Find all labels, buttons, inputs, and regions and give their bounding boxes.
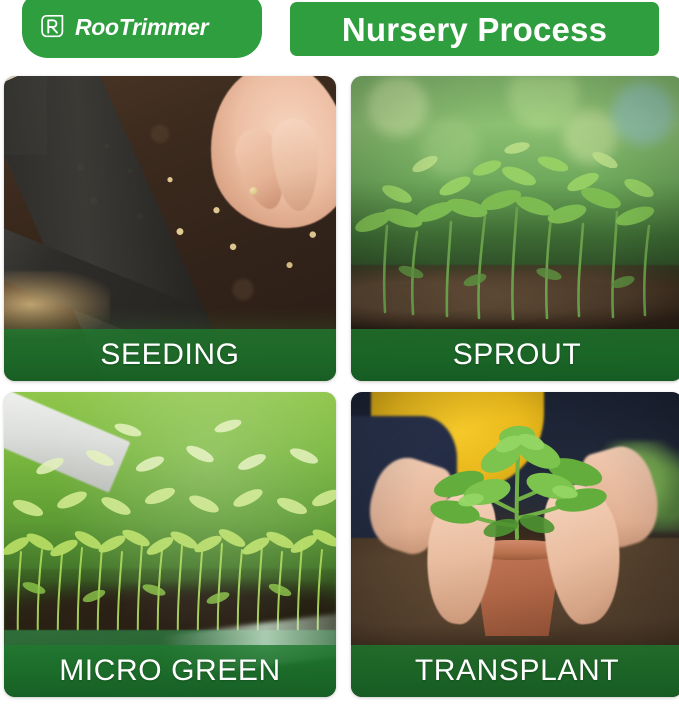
process-step-sprout[interactable]: SPROUT: [351, 76, 679, 381]
panel-label-seeding: SEEDING: [4, 329, 336, 381]
header: RooTrimmer Nursery Process: [0, 0, 679, 72]
process-step-micro-green[interactable]: MICRO GREEN: [4, 392, 336, 697]
nursery-process-infographic: RooTrimmer Nursery Process SEEDING: [0, 0, 679, 705]
process-step-grid: SEEDING: [0, 76, 679, 701]
process-step-seeding[interactable]: SEEDING: [4, 76, 336, 381]
brand-banner: RooTrimmer: [22, 0, 262, 58]
panel-label-micro-green: MICRO GREEN: [4, 645, 336, 697]
panel-label-text: MICRO GREEN: [4, 656, 336, 686]
panel-label-text: TRANSPLANT: [351, 656, 679, 686]
rootrimmer-r-logo-icon: [39, 14, 66, 41]
process-step-transplant[interactable]: TRANSPLANT: [351, 392, 679, 697]
title-banner: Nursery Process: [290, 2, 659, 56]
panel-label-transplant: TRANSPLANT: [351, 645, 679, 697]
panel-label-text: SPROUT: [351, 340, 679, 370]
brand-name: RooTrimmer: [75, 16, 208, 39]
page-title: Nursery Process: [342, 13, 607, 46]
panel-label-sprout: SPROUT: [351, 329, 679, 381]
panel-label-text: SEEDING: [4, 340, 336, 370]
